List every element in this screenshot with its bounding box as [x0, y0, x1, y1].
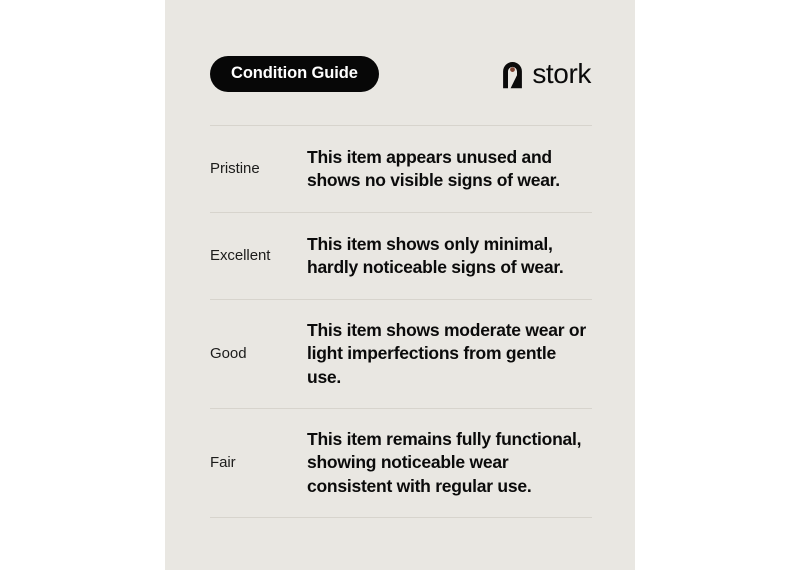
page-root: Condition Guide stork Pristine This item… — [0, 0, 800, 570]
condition-label: Good — [210, 344, 307, 364]
condition-label: Excellent — [210, 246, 307, 266]
condition-guide-badge[interactable]: Condition Guide — [210, 56, 379, 92]
table-row: Pristine This item appears unused and sh… — [210, 126, 592, 212]
condition-description: This item shows only minimal, hardly not… — [307, 233, 592, 279]
stork-arch-logo-icon — [500, 59, 525, 89]
table-row: Good This item shows moderate wear or li… — [210, 300, 592, 408]
condition-guide-card: Condition Guide stork Pristine This item… — [165, 0, 635, 570]
condition-label: Pristine — [210, 159, 307, 179]
table-row: Excellent This item shows only minimal, … — [210, 213, 592, 299]
condition-description: This item remains fully functional, show… — [307, 428, 592, 497]
brand-lockup: stork — [500, 59, 591, 89]
table-row: Fair This item remains fully functional,… — [210, 409, 592, 517]
card-header: Condition Guide stork — [210, 55, 592, 93]
condition-description: This item appears unused and shows no vi… — [307, 146, 592, 192]
divider-bottom — [210, 517, 592, 518]
brand-wordmark: stork — [532, 60, 591, 88]
condition-table: Pristine This item appears unused and sh… — [210, 125, 592, 518]
condition-label: Fair — [210, 453, 307, 473]
condition-description: This item shows moderate wear or light i… — [307, 319, 592, 388]
